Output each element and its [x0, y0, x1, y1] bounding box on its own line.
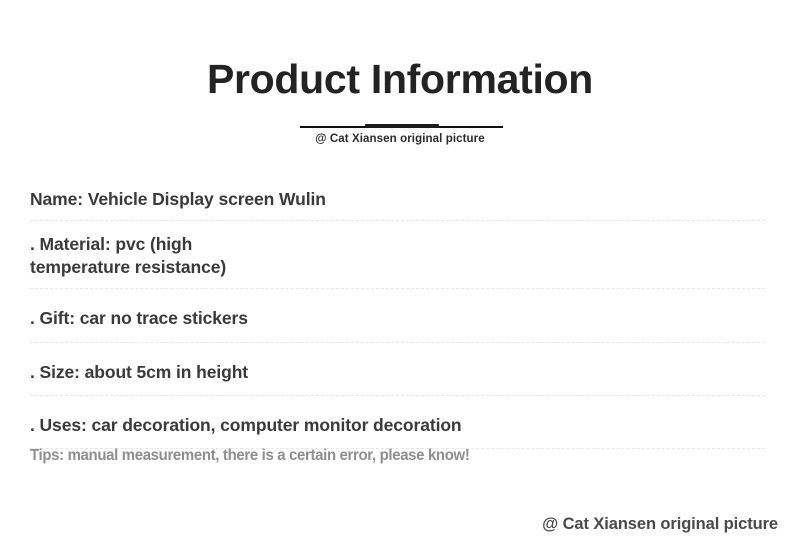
list-item: . Size: about 5cm in height — [30, 343, 765, 396]
spec-row-text: . Gift: car no trace stickers — [30, 289, 765, 333]
tips-note: Tips: manual measurement, there is a cer… — [30, 447, 706, 465]
list-item: . Material: pvc (high temperature resist… — [30, 221, 765, 289]
spec-row-text: . Size: about 5cm in height — [30, 343, 765, 387]
product-information-page: Product Information @ Cat Xiansen origin… — [0, 0, 800, 547]
list-item: . Uses: car decoration, computer monitor… — [30, 396, 765, 449]
header-watermark-subtitle: @ Cat Xiansen original picture — [0, 133, 800, 145]
list-item: . Gift: car no trace stickers — [30, 289, 765, 342]
watermark-bottom-right: @ Cat Xiansen original picture — [542, 515, 778, 534]
spec-row-text: . Uses: car decoration, computer monitor… — [30, 396, 765, 440]
spec-row-text: . Material: pvc (high temperature resist… — [30, 221, 765, 280]
specification-list: Name: Vehicle Display screen Wulin . Mat… — [30, 182, 765, 449]
list-item: Name: Vehicle Display screen Wulin — [30, 182, 765, 221]
spec-row-text: Name: Vehicle Display screen Wulin — [30, 182, 765, 212]
page-title: Product Information — [0, 58, 800, 101]
title-divider-accent — [365, 124, 439, 128]
